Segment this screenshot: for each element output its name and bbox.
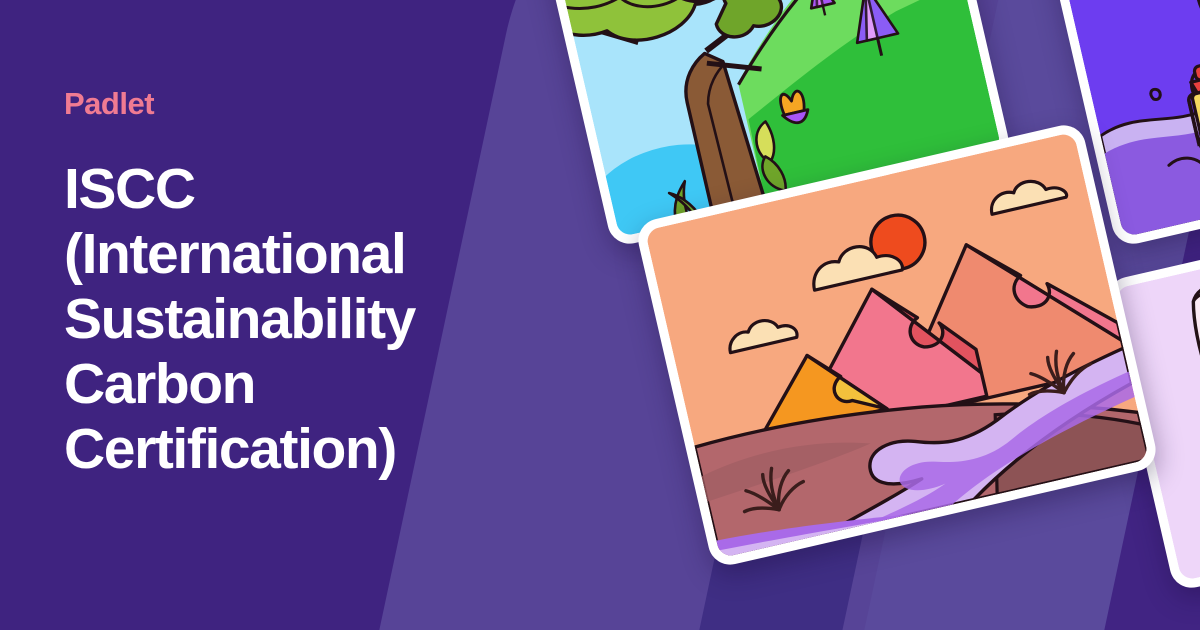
share-preview-card: Padlet ISCC (International Sustainabilit… bbox=[0, 0, 1200, 630]
page-title: ISCC (International Sustainability Carbo… bbox=[64, 157, 494, 482]
padlet-logo[interactable]: Padlet bbox=[64, 88, 494, 119]
text-column: Padlet ISCC (International Sustainabilit… bbox=[64, 88, 494, 520]
